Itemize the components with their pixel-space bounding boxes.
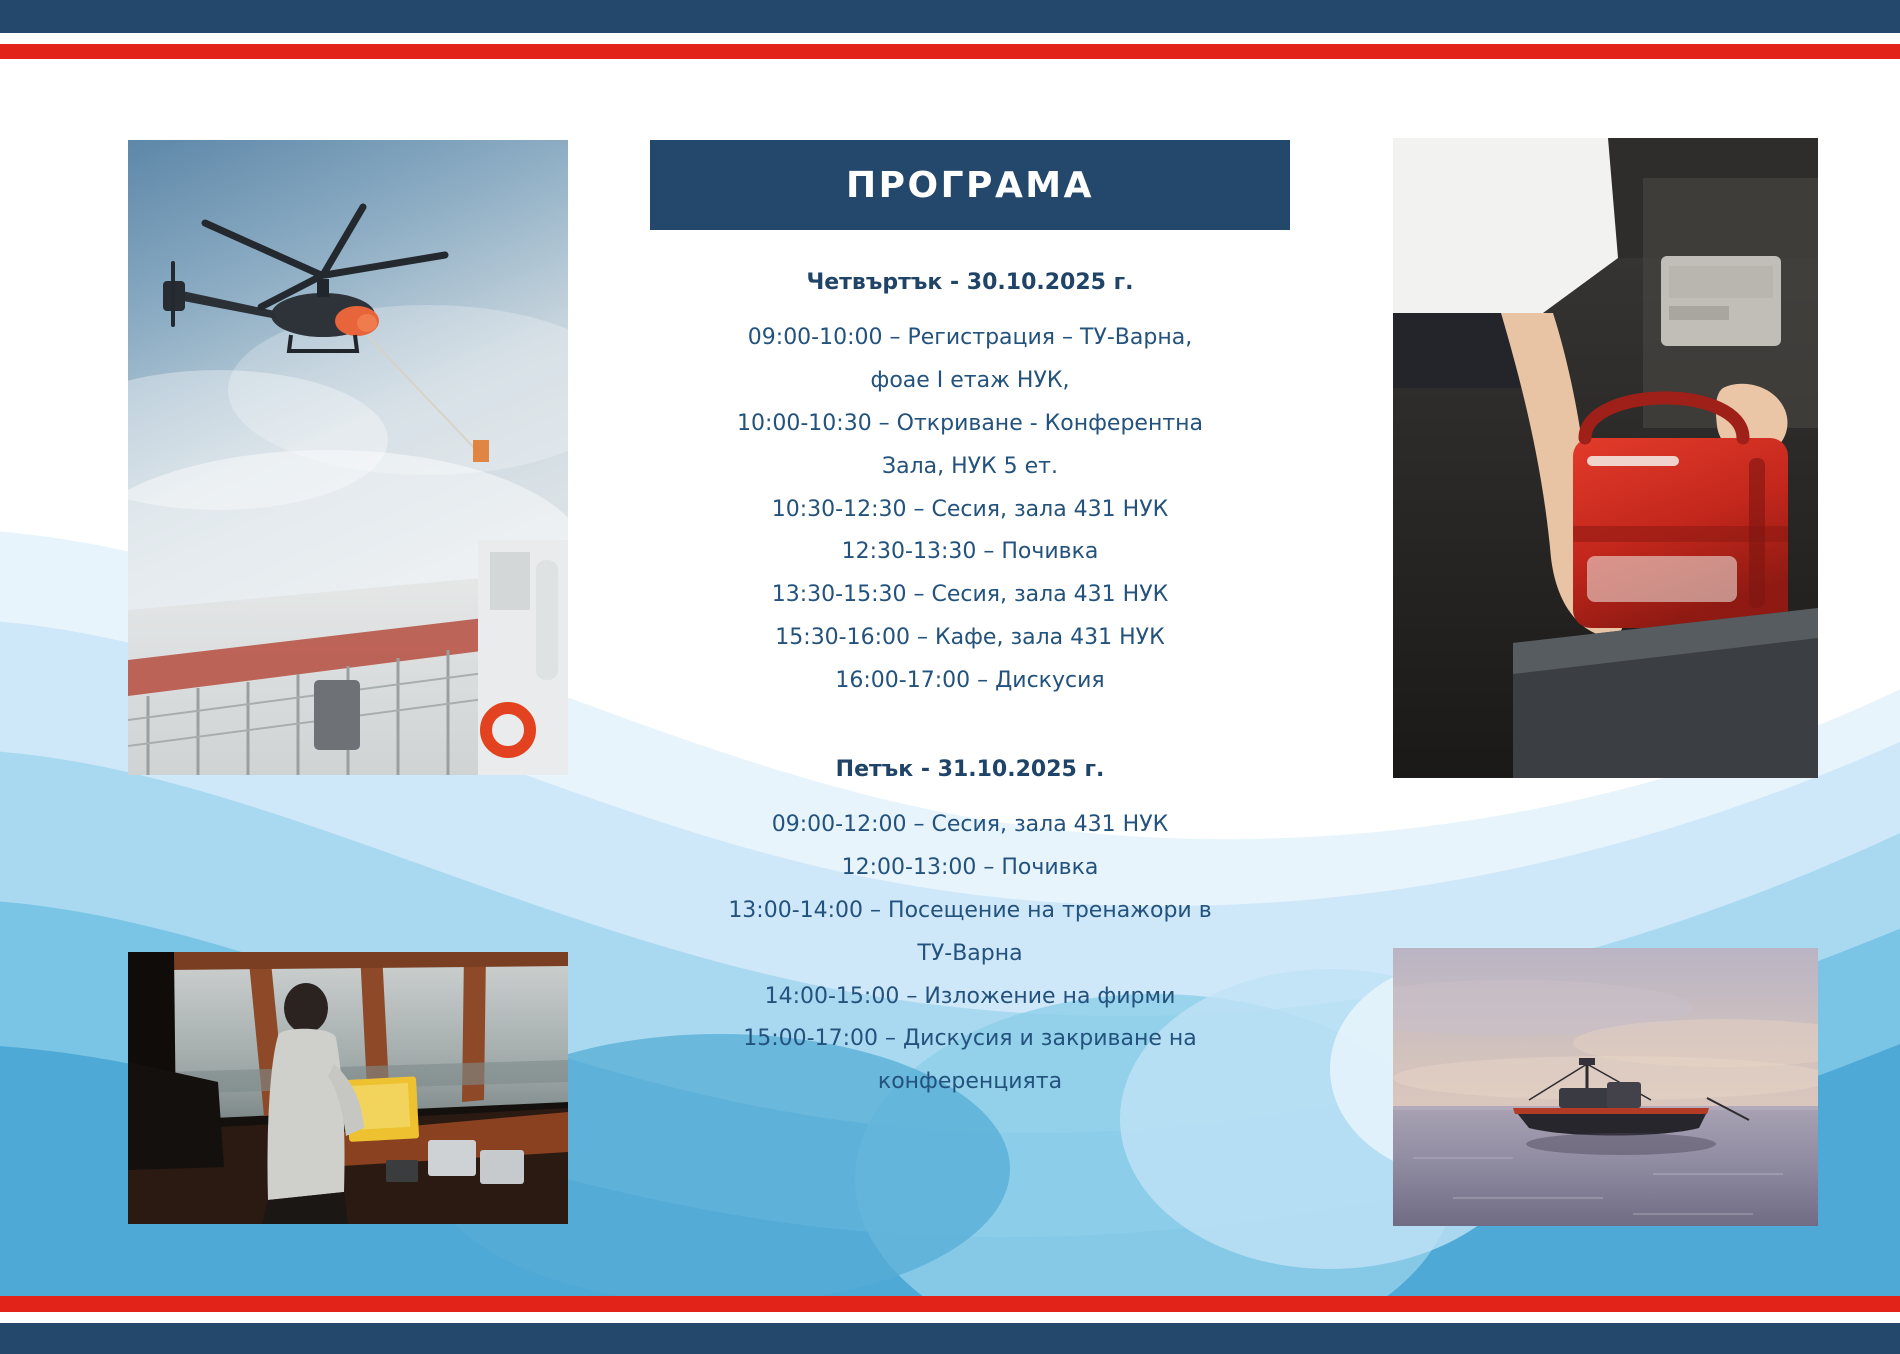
top-red-stripe bbox=[0, 44, 1900, 59]
program-entry: фоае I етаж НУК, bbox=[650, 360, 1290, 403]
program-banner: ПРОГРАМА bbox=[650, 140, 1290, 230]
program-entry: 12:00-13:00 – Почивка bbox=[650, 847, 1290, 890]
program-column: ПРОГРАМА Четвъртък - 30.10.2025 г. 09:00… bbox=[650, 140, 1290, 1104]
top-navy-band bbox=[0, 0, 1900, 33]
program-entry: 15:00-17:00 – Дискусия и закриване на bbox=[650, 1018, 1290, 1061]
photo-helicopter-over-ship-deck bbox=[128, 140, 568, 775]
photo-lifeboat-at-sea-at-dusk bbox=[1393, 948, 1818, 1226]
program-entry: 09:00-12:00 – Сесия, зала 431 НУК bbox=[650, 804, 1290, 847]
program-entry: 13:00-14:00 – Посещение на тренажори в bbox=[650, 890, 1290, 933]
photo-paramedic-with-red-medical-bag bbox=[1393, 138, 1818, 778]
program-entry: ТУ-Варна bbox=[650, 933, 1290, 976]
bottom-navy-band bbox=[0, 1323, 1900, 1354]
program-entry: 15:30-16:00 – Кафе, зала 431 НУК bbox=[650, 617, 1290, 660]
day-heading-friday: Петък - 31.10.2025 г. bbox=[650, 753, 1290, 786]
day-heading-thursday: Четвъртък - 30.10.2025 г. bbox=[650, 266, 1290, 299]
day-spacer bbox=[650, 703, 1290, 737]
program-title: ПРОГРАМА bbox=[846, 165, 1094, 206]
program-day-thursday: Четвъртък - 30.10.2025 г. 09:00-10:00 – … bbox=[650, 266, 1290, 703]
program-entry: 14:00-15:00 – Изложение на фирми bbox=[650, 976, 1290, 1019]
photo-officer-on-ship-bridge bbox=[128, 952, 568, 1224]
program-entry: 09:00-10:00 – Регистрация – ТУ-Варна, bbox=[650, 317, 1290, 360]
program-entry: 16:00-17:00 – Дискусия bbox=[650, 660, 1290, 703]
program-entry: 10:30-12:30 – Сесия, зала 431 НУК bbox=[650, 489, 1290, 532]
program-entry: Зала, НУК 5 ет. bbox=[650, 446, 1290, 489]
program-entry: 12:30-13:30 – Почивка bbox=[650, 531, 1290, 574]
program-entry: 13:30-15:30 – Сесия, зала 431 НУК bbox=[650, 574, 1290, 617]
bottom-red-stripe bbox=[0, 1296, 1900, 1312]
program-body: Четвъртък - 30.10.2025 г. 09:00-10:00 – … bbox=[650, 266, 1290, 1104]
program-entry: 10:00-10:30 – Откриване - Конферентна bbox=[650, 403, 1290, 446]
program-day-friday: Петък - 31.10.2025 г. 09:00-12:00 – Сеси… bbox=[650, 753, 1290, 1104]
program-entry: конференцията bbox=[650, 1061, 1290, 1104]
